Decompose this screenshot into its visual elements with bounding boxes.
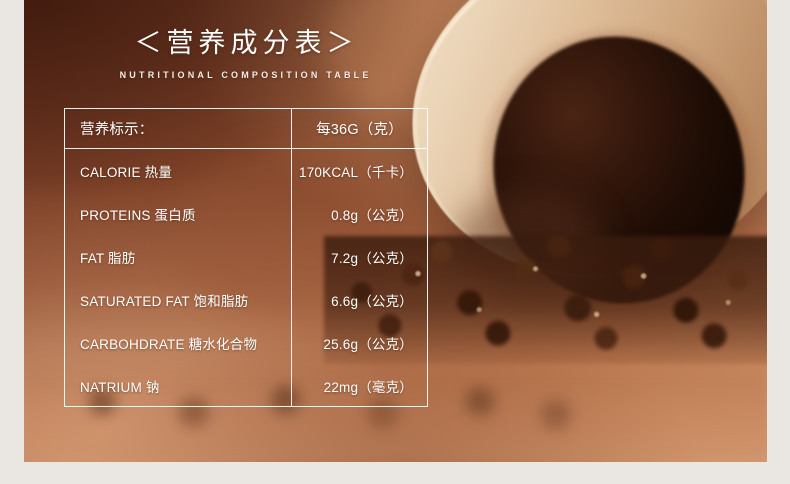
row-label: PROTEINS 蛋白质 [65, 192, 292, 235]
table-header-row: 营养标示： 每36G（克） [65, 109, 427, 149]
page-title: ＜营养成分表＞ [24, 26, 464, 60]
row-value: 0.8g（公克） [292, 192, 427, 235]
row-value: 22mg（毫克） [292, 364, 427, 407]
nutrition-banner: ＜营养成分表＞ NUTRITIONAL COMPOSITION TABLE 营养… [0, 0, 790, 484]
row-label: SATURATED FAT 饱和脂肪 [65, 278, 292, 321]
header-label-cell: 营养标示： [65, 109, 292, 148]
table-row: CARBOHDRATE 糖水化合物 25.6g（公克） [65, 321, 427, 364]
table-row: SATURATED FAT 饱和脂肪 6.6g（公克） [65, 278, 427, 321]
page-subtitle: NUTRITIONAL COMPOSITION TABLE [24, 69, 464, 81]
row-value: 6.6g（公克） [292, 278, 427, 321]
table-row: PROTEINS 蛋白质 0.8g（公克） [65, 192, 427, 235]
row-label: NATRIUM 钠 [65, 364, 292, 407]
header-value-cell: 每36G（克） [292, 109, 427, 148]
row-value: 7.2g（公克） [292, 235, 427, 278]
row-label: CALORIE 热量 [65, 149, 292, 192]
table-row: FAT 脂肪 7.2g（公克） [65, 235, 427, 278]
row-label: CARBOHDRATE 糖水化合物 [65, 321, 292, 364]
row-value: 25.6g（公克） [292, 321, 427, 364]
table-row: CALORIE 热量 170KCAL（千卡） [65, 149, 427, 192]
heading-block: ＜营养成分表＞ NUTRITIONAL COMPOSITION TABLE [24, 26, 464, 81]
row-value: 170KCAL（千卡） [292, 149, 427, 192]
table-row: NATRIUM 钠 22mg（毫克） [65, 364, 427, 407]
row-label: FAT 脂肪 [65, 235, 292, 278]
nutrition-table: 营养标示： 每36G（克） CALORIE 热量 170KCAL（千卡） PRO… [64, 108, 428, 407]
